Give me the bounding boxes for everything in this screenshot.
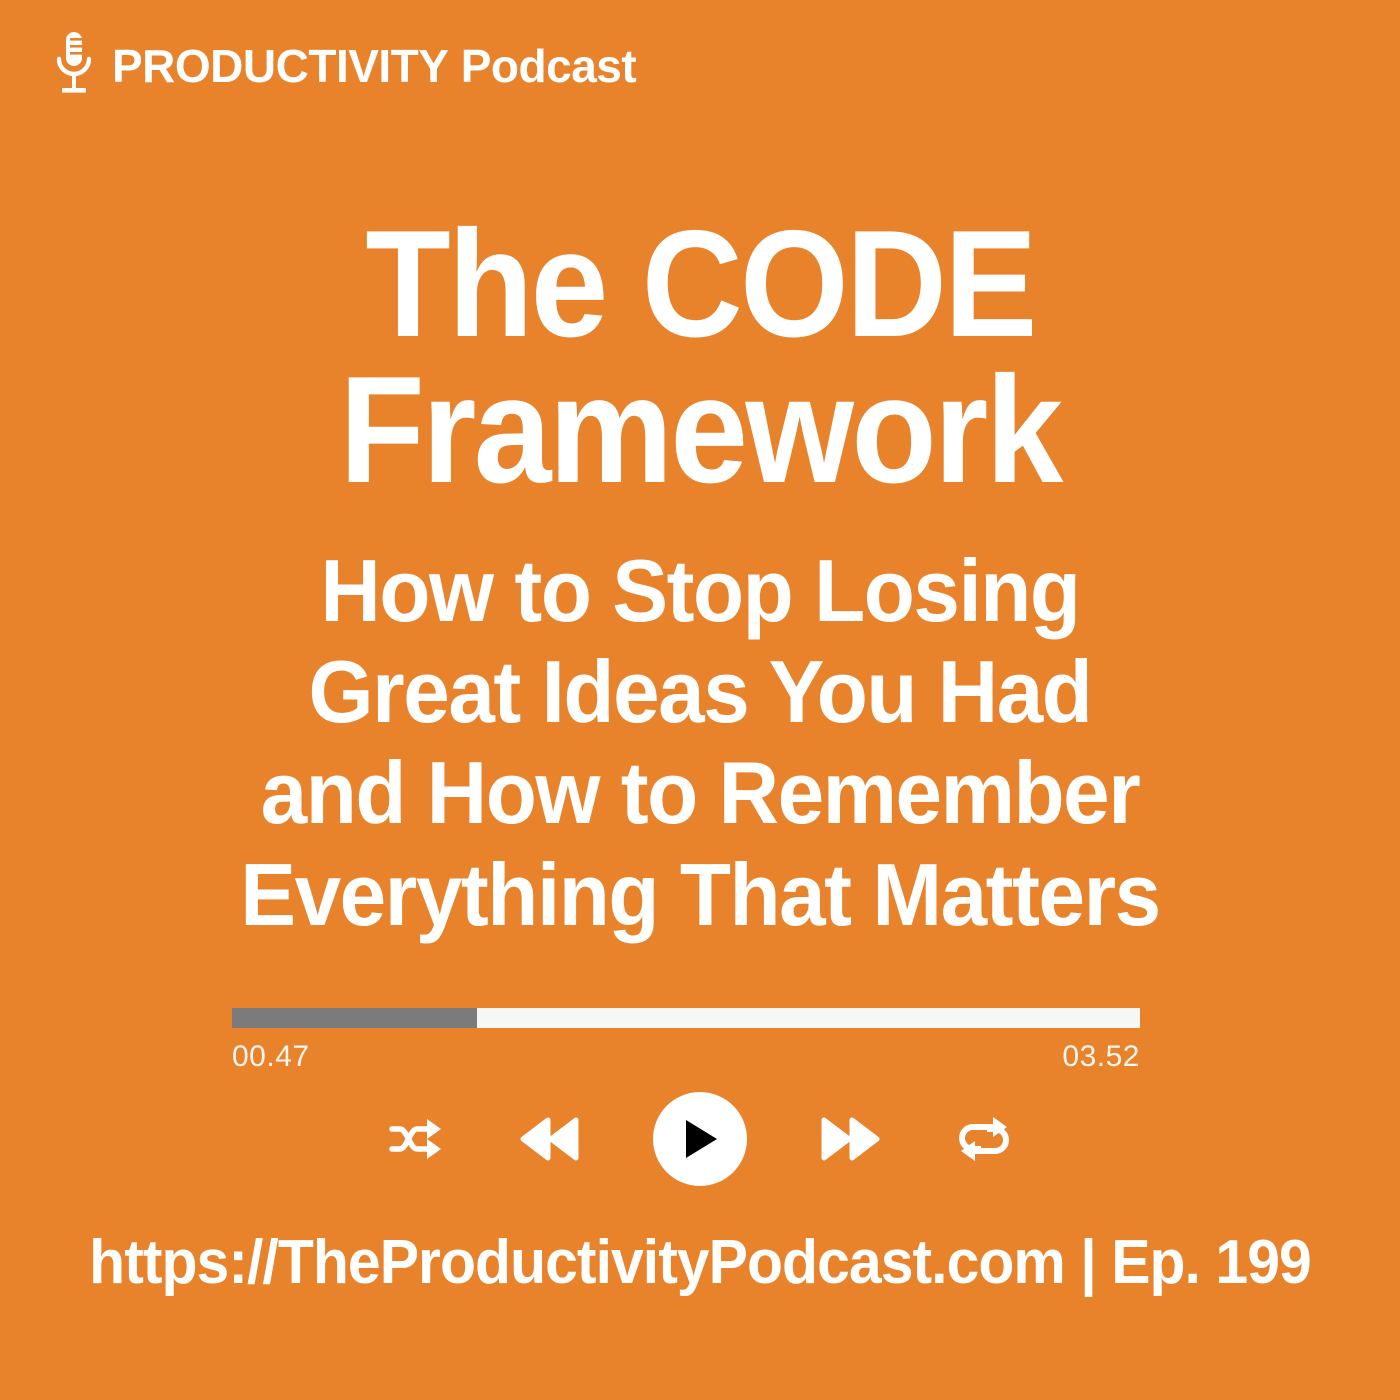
player-controls bbox=[0, 1092, 1400, 1186]
microphone-icon bbox=[52, 30, 96, 102]
episode-title: The CODE Framework bbox=[0, 212, 1400, 504]
progress-fill bbox=[232, 1008, 477, 1028]
brand-name-bold: PRODUCTIVITY bbox=[112, 40, 448, 92]
brand-title: PRODUCTIVITY Podcast bbox=[112, 43, 636, 89]
subtitle-line-1: How to Stop Losing bbox=[35, 540, 1365, 641]
rewind-icon[interactable] bbox=[519, 1108, 581, 1170]
footer: https://TheProductivityPodcast.com | Ep.… bbox=[0, 1232, 1400, 1294]
subtitle-line-3: and How to Remember bbox=[35, 742, 1365, 843]
episode-subtitle: How to Stop Losing Great Ideas You Had a… bbox=[0, 540, 1400, 945]
time-row: 00.47 03.52 bbox=[232, 1040, 1140, 1074]
title-line-1: The CODE bbox=[56, 212, 1344, 358]
brand-name-regular: Podcast bbox=[461, 40, 636, 92]
repeat-icon[interactable] bbox=[953, 1108, 1015, 1170]
progress-bar[interactable] bbox=[232, 1008, 1140, 1028]
shuffle-icon[interactable] bbox=[385, 1108, 447, 1170]
fast-forward-icon[interactable] bbox=[819, 1108, 881, 1170]
subtitle-line-4: Everything That Matters bbox=[35, 844, 1365, 945]
podcast-cover: PRODUCTIVITY Podcast The CODE Framework … bbox=[0, 0, 1400, 1400]
elapsed-time: 00.47 bbox=[232, 1040, 310, 1074]
play-button[interactable] bbox=[653, 1092, 747, 1186]
audio-player: 00.47 03.52 bbox=[232, 1008, 1140, 1074]
footer-url-episode[interactable]: https://TheProductivityPodcast.com | Ep.… bbox=[35, 1232, 1365, 1294]
total-time: 03.52 bbox=[1062, 1040, 1140, 1074]
play-icon bbox=[680, 1117, 720, 1161]
brand-header: PRODUCTIVITY Podcast bbox=[52, 30, 636, 102]
subtitle-line-2: Great Ideas You Had bbox=[35, 641, 1365, 742]
title-line-2: Framework bbox=[56, 358, 1344, 504]
